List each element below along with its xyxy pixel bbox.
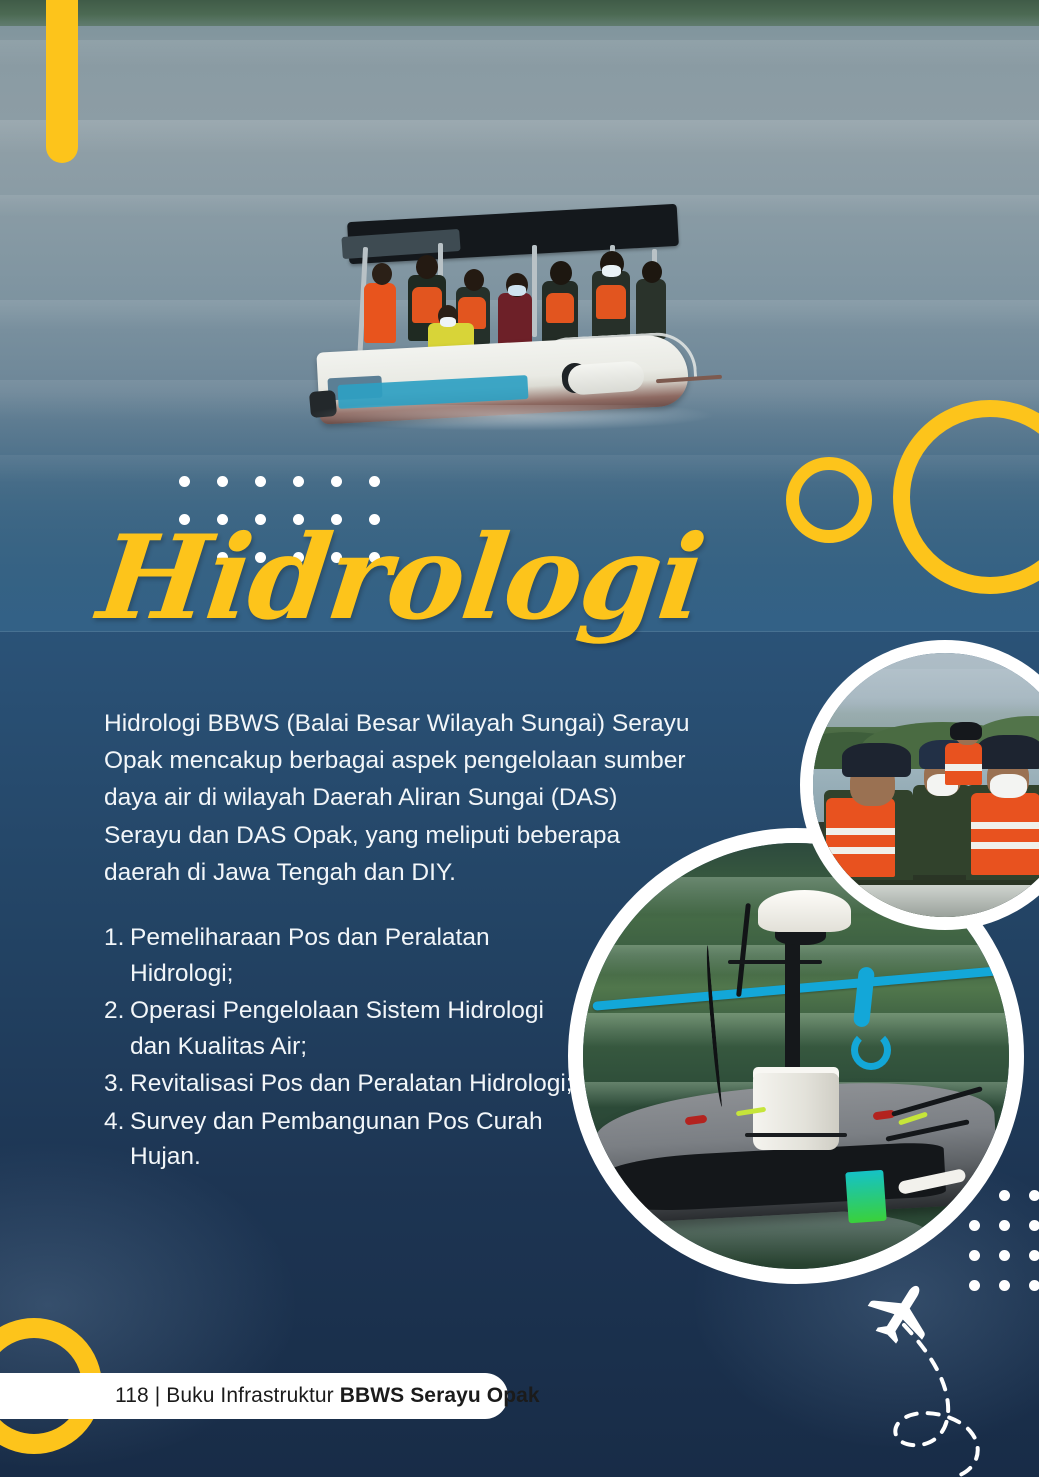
life-vest (826, 798, 895, 877)
flight-path-dashed (895, 1325, 977, 1475)
crew-vest (546, 293, 574, 323)
footer-organization: BBWS Serayu Opak (340, 1384, 540, 1407)
crew-shirt (913, 785, 971, 875)
dot (179, 476, 190, 487)
page-title: Hidrologi (93, 520, 709, 636)
list-item-label: Operasi Pengelolaan Sistem Hidrologi dan… (130, 993, 574, 1064)
face-mask (990, 774, 1027, 798)
life-vest (971, 793, 1039, 875)
list-item-number: 3. (104, 1066, 130, 1102)
crew-hat (977, 735, 1039, 769)
water-band (0, 120, 1039, 154)
dot (969, 1220, 980, 1231)
list-item-number: 4. (104, 1104, 130, 1175)
list-item: 2. Operasi Pengelolaan Sistem Hidrologi … (104, 993, 574, 1064)
crew-vest (596, 285, 626, 319)
dot (1029, 1190, 1039, 1201)
camera-body (950, 722, 982, 740)
list-item: 3. Revitalisasi Pos dan Peralatan Hidrol… (104, 1066, 574, 1102)
list-item-label: Revitalisasi Pos dan Peralatan Hidrologi… (130, 1066, 574, 1102)
yellow-ring-small (786, 457, 872, 543)
footer-page-number: 118 (115, 1384, 149, 1407)
list-item-number: 1. (104, 920, 130, 991)
green-float (845, 1170, 887, 1224)
list-item: 1. Pemeliharaan Pos dan Peralatan Hidrol… (104, 920, 574, 991)
photo-inset-crew (800, 640, 1039, 930)
face-mask (602, 265, 621, 277)
crew-head (642, 261, 662, 283)
dot (293, 476, 304, 487)
dot (1029, 1220, 1039, 1231)
dot (255, 476, 266, 487)
list-item-label: Survey dan Pembangunan Pos Curah Hujan. (130, 1104, 574, 1175)
life-vest (945, 743, 982, 785)
document-page: Hidrologi Hidrologi BBWS (Balai Besar Wi… (0, 0, 1039, 1477)
sensor-cylinder (753, 1073, 838, 1150)
yellow-bar-decoration (46, 0, 78, 163)
footer-book-label: Buku Infrastruktur (166, 1384, 334, 1407)
dot (1029, 1250, 1039, 1261)
crew-member (498, 293, 532, 347)
water-band (0, 40, 1039, 66)
dot (217, 476, 228, 487)
list-item-number: 2. (104, 993, 130, 1064)
treeline (0, 0, 1039, 26)
sensor-band (745, 1133, 847, 1137)
dot (969, 1250, 980, 1261)
dot (369, 476, 380, 487)
dot (331, 476, 342, 487)
canopy-pole (532, 245, 537, 337)
airplane-trail-svg (860, 1275, 1039, 1477)
activity-list: 1. Pemeliharaan Pos dan Peralatan Hidrol… (104, 920, 574, 1177)
footer-separator: | (155, 1384, 161, 1407)
airplane-icon (860, 1275, 945, 1354)
crew-photo (813, 653, 1039, 917)
dot (999, 1220, 1010, 1231)
water-band (0, 455, 1039, 483)
dot (999, 1250, 1010, 1261)
face-mask (508, 285, 526, 296)
footer-text: 118 | Buku Infrastruktur BBWS Serayu Opa… (115, 1384, 540, 1408)
rope-hook (851, 1030, 891, 1070)
crew-member (636, 279, 666, 339)
crew-head (372, 263, 392, 285)
crew-head (550, 261, 572, 285)
survey-boat (300, 205, 720, 435)
airplane-decoration (860, 1275, 1039, 1477)
dot (999, 1190, 1010, 1201)
boat-fender (567, 360, 645, 395)
antenna-crossbar (728, 960, 822, 964)
list-item: 4. Survey dan Pembangunan Pos Curah Huja… (104, 1104, 574, 1175)
face-mask (440, 317, 456, 327)
crew-head (416, 255, 438, 279)
crew-cap (842, 743, 911, 777)
boat-deck (829, 885, 1039, 917)
boat-wake (306, 405, 716, 431)
crew-head (464, 269, 484, 291)
crew-member (364, 283, 396, 343)
list-item-label: Pemeliharaan Pos dan Peralatan Hidrologi… (130, 920, 574, 991)
